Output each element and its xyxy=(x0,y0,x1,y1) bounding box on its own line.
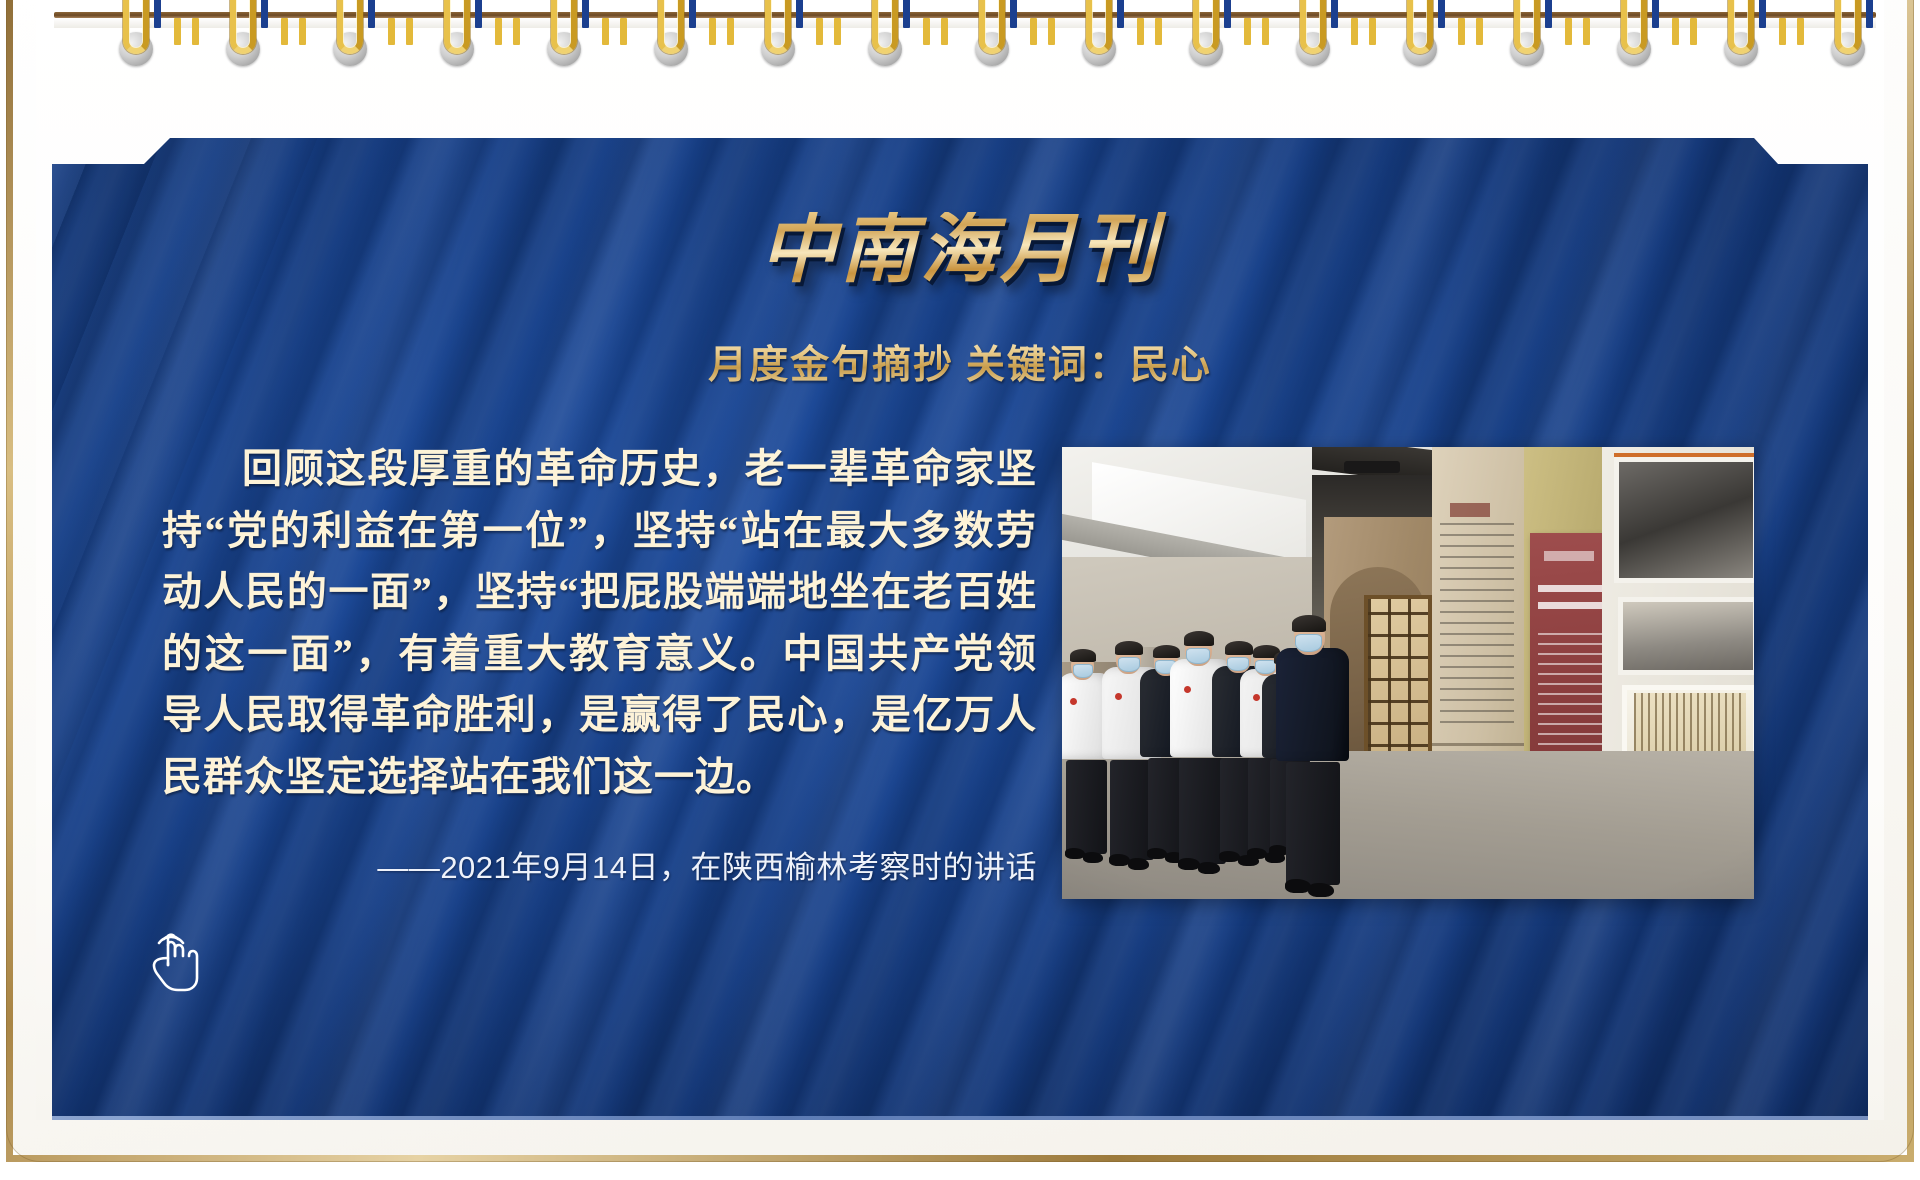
binding-ring xyxy=(435,0,481,60)
binding-wire xyxy=(1086,0,1112,54)
binding-ring xyxy=(1719,0,1765,60)
binding-dash xyxy=(1155,18,1162,45)
binding-wire xyxy=(979,0,1005,54)
binding-dash xyxy=(388,18,395,45)
page-subtitle: 月度金句摘抄 关键词：民心 xyxy=(52,334,1868,390)
binding-dash xyxy=(1583,18,1590,45)
binding-dash-row xyxy=(36,0,1884,112)
binding-dash xyxy=(816,18,823,45)
binding-wire xyxy=(1300,0,1326,54)
binding-wire xyxy=(1514,0,1540,54)
binding-dash xyxy=(620,18,627,45)
binding-dash xyxy=(1672,18,1679,45)
binding-ring xyxy=(1505,0,1551,60)
binding-dash xyxy=(513,18,520,45)
binding-ring xyxy=(863,0,909,60)
binding-wire xyxy=(551,0,577,54)
binding-dash xyxy=(1797,18,1804,45)
binding-dash xyxy=(834,18,841,45)
binding-ring xyxy=(1826,0,1872,60)
binding-ring xyxy=(1184,0,1230,60)
binding-dash xyxy=(495,18,502,45)
binding-ring xyxy=(221,0,267,60)
binding-wire xyxy=(1193,0,1219,54)
binding-ring xyxy=(542,0,588,60)
binding-dash xyxy=(1048,18,1055,45)
quote-block: 回顾这段厚重的革命历史，老一辈革命家坚持“党的利益在第一位”，坚持“站在最大多数… xyxy=(162,438,1037,887)
binding-dash xyxy=(1351,18,1358,45)
binding-dash xyxy=(1476,18,1483,45)
binding-dash xyxy=(709,18,716,45)
binding-dash xyxy=(1565,18,1572,45)
feature-photo xyxy=(1062,447,1754,899)
binding-dash xyxy=(192,18,199,45)
slide-canvas: 中南海月刊 月度金句摘抄 关键词：民心 回顾这段厚重的革命历史，老一辈革命家坚持… xyxy=(0,0,1920,1180)
binding-dash xyxy=(299,18,306,45)
binding-dash xyxy=(1690,18,1697,45)
binding-wire xyxy=(123,0,149,54)
binding-dash xyxy=(174,18,181,45)
binding-dash xyxy=(1369,18,1376,45)
binding-wire xyxy=(1407,0,1433,54)
binding-wire xyxy=(1621,0,1647,54)
tap-hand-icon[interactable] xyxy=(138,918,208,994)
binding-dash xyxy=(727,18,734,45)
binding-ring xyxy=(1398,0,1444,60)
binding-dash xyxy=(923,18,930,45)
binding-ring xyxy=(649,0,695,60)
binding-dash xyxy=(1779,18,1786,45)
content-panel: 中南海月刊 月度金句摘抄 关键词：民心 回顾这段厚重的革命历史，老一辈革命家坚持… xyxy=(52,138,1868,1120)
quote-attribution: ——2021年9月14日，在陕西榆林考察时的讲话 xyxy=(162,842,1037,887)
binding-dash xyxy=(1030,18,1037,45)
binding-dash xyxy=(1244,18,1251,45)
binding-ring xyxy=(1291,0,1337,60)
binding-wire xyxy=(444,0,470,54)
binding-dash xyxy=(941,18,948,45)
binding-wire xyxy=(1728,0,1754,54)
binding-wire xyxy=(230,0,256,54)
binding-ring xyxy=(756,0,802,60)
binding-ring xyxy=(1612,0,1658,60)
binding-wire xyxy=(658,0,684,54)
binding-wire xyxy=(1835,0,1861,54)
binding-ring xyxy=(970,0,1016,60)
binding-ring xyxy=(1077,0,1123,60)
quote-text: 回顾这段厚重的革命历史，老一辈革命家坚持“党的利益在第一位”，坚持“站在最大多数… xyxy=(162,438,1037,808)
binding-wire xyxy=(765,0,791,54)
binding-dash xyxy=(1262,18,1269,45)
binding-wire xyxy=(337,0,363,54)
binding-wire xyxy=(872,0,898,54)
binding-dash xyxy=(1137,18,1144,45)
binding-dash xyxy=(602,18,609,45)
binding-dash xyxy=(406,18,413,45)
binding-ring xyxy=(114,0,160,60)
binding-dash xyxy=(1458,18,1465,45)
binding-ring xyxy=(328,0,374,60)
binding-dash xyxy=(281,18,288,45)
spiral-binding xyxy=(36,0,1884,112)
page-title: 中南海月刊 xyxy=(52,212,1868,288)
